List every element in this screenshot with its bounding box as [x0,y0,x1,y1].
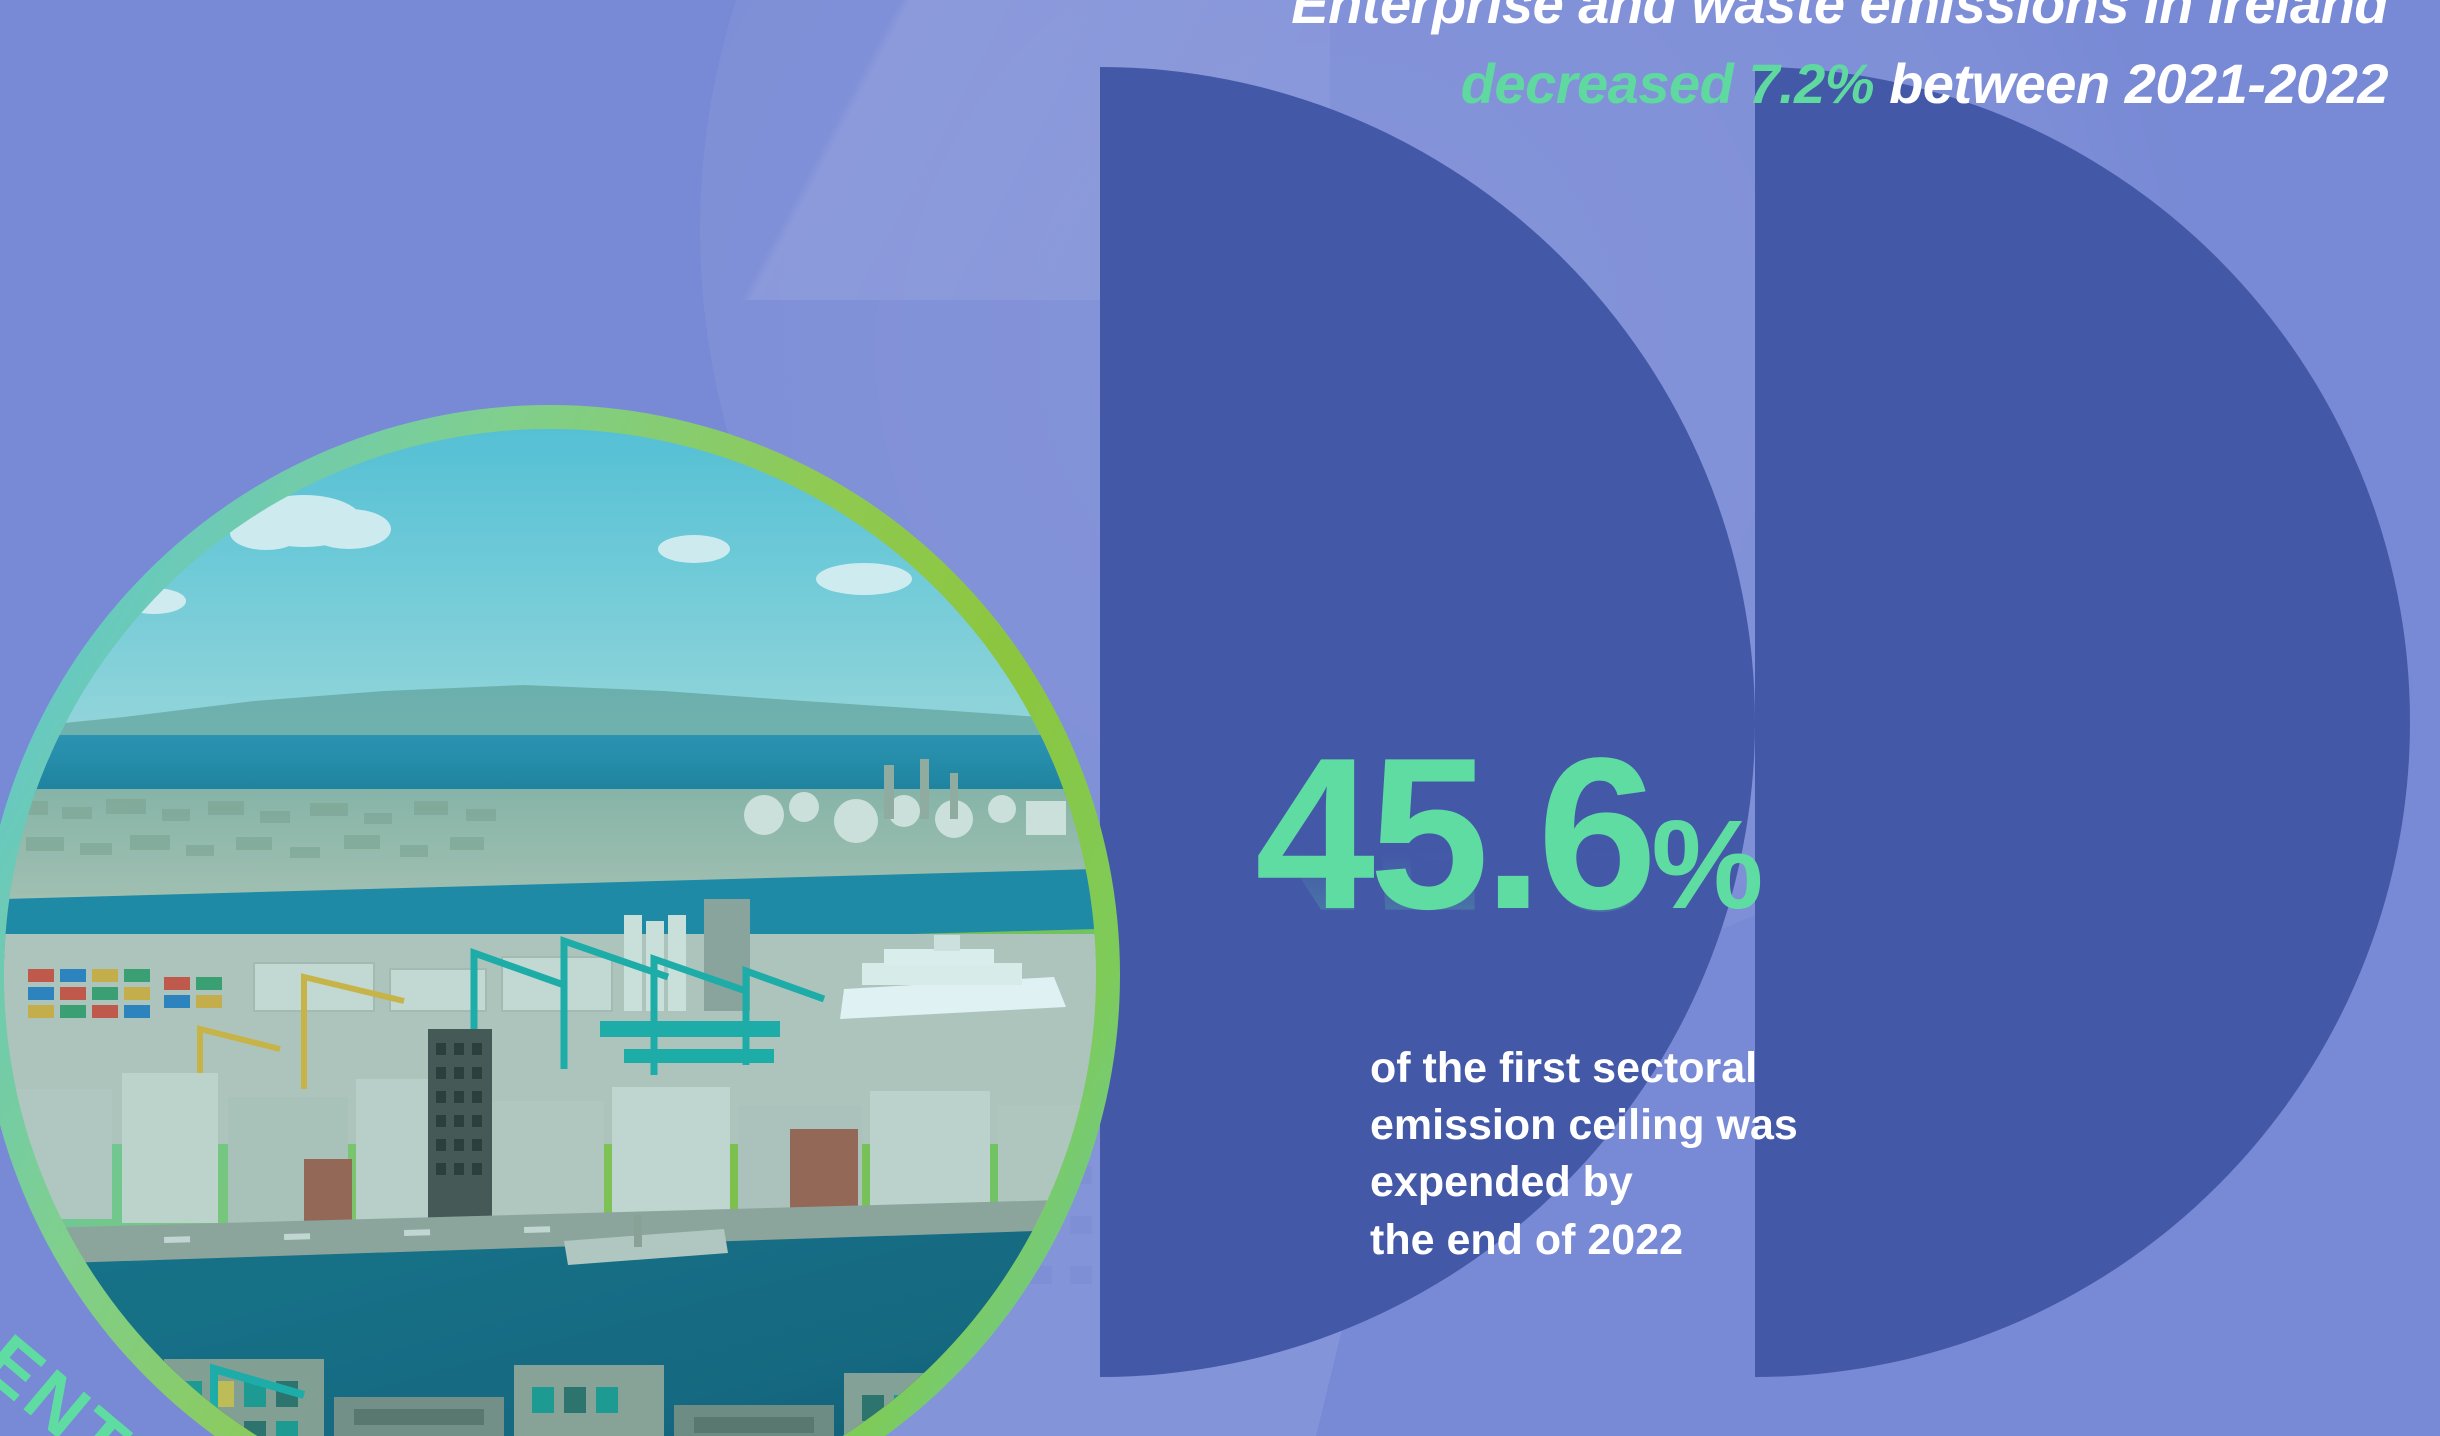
stat-block: 45.6% 45.6% [1255,745,2015,1042]
headline-accent: decreased 7.2% [1461,52,1874,115]
headline: Enterprise and waste emissions in Irelan… [988,0,2388,112]
headline-line-1: Enterprise and waste emissions in Irelan… [988,0,2388,32]
infographic-canvas: Enterprise and waste emissions in Irelan… [0,0,2440,1436]
stat-caption: of the first sectoral emission ceiling w… [1370,1040,2010,1269]
stat-value-number: 45.6 [1255,712,1651,954]
headline-line-2-suffix: between 2021-2022 [1874,52,2388,115]
stat-caption-line-1: of the first sectoral [1370,1040,2010,1097]
stat-value: 45.6% [1255,745,2015,922]
stat-caption-line-4: the end of 2022 [1370,1212,2010,1269]
headline-line-2: decreased 7.2% between 2021-2022 [988,56,2388,112]
stat-caption-line-3: expended by [1370,1154,2010,1211]
stat-value-unit: % [1651,794,1761,935]
stat-caption-line-2: emission ceiling was [1370,1097,2010,1154]
